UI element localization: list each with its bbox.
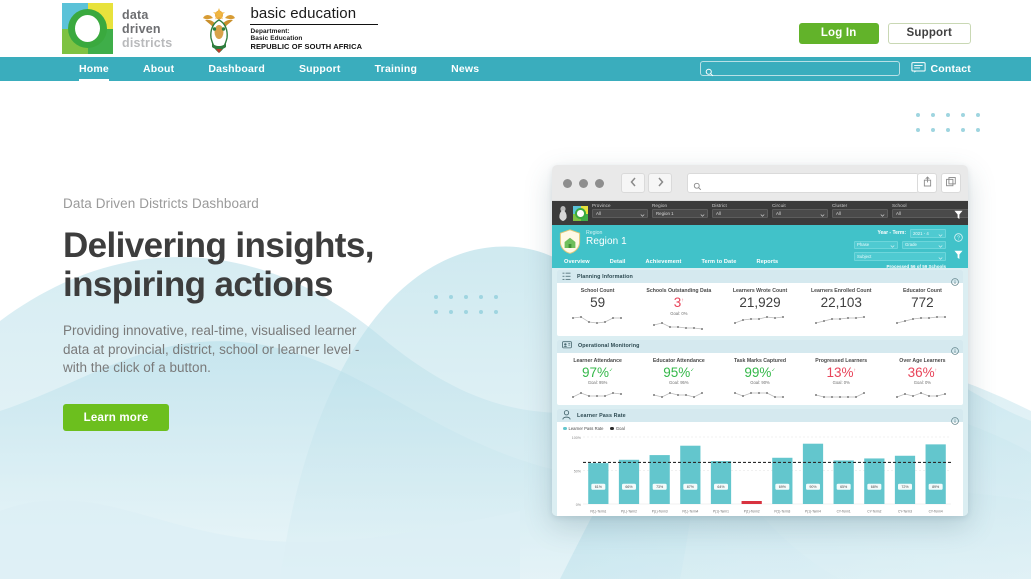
subject-row: Subject <box>828 252 946 261</box>
nav-item-dashboard[interactable]: Dashboard <box>191 57 282 81</box>
contact-link[interactable]: Contact <box>911 62 971 76</box>
subject-value: Subject <box>855 254 871 259</box>
be-title: basic education <box>250 6 378 22</box>
contact-label: Contact <box>931 63 971 75</box>
subject-select[interactable]: Subject <box>854 252 946 261</box>
chevron-down-icon <box>697 213 705 218</box>
kpi-value: 97%✓ <box>557 366 638 380</box>
chevron-right-icon <box>657 174 664 192</box>
kpi-value-number: 97% <box>582 365 609 380</box>
funnel-icon[interactable] <box>954 207 963 225</box>
svg-text:P(L)-Term3: P(L)-Term3 <box>652 510 668 514</box>
legend-item-goal: Goal <box>610 426 624 431</box>
kpi-value-number: 99% <box>744 365 771 380</box>
year-term-row: Year - Term: 2021 - 4 <box>828 229 946 238</box>
hero-eyebrow: Data Driven Districts Dashboard <box>63 196 403 211</box>
brand-row: data driven districts <box>62 3 378 54</box>
pass-rate-panel-header: Learner Pass Rate <box>557 409 963 422</box>
trend-check-icon: ✓ <box>771 367 775 373</box>
nav-item-training[interactable]: Training <box>358 57 434 81</box>
processed-schools-status: Processed 56 of 59 Schools <box>828 264 946 269</box>
operational-panel-header: Operational Monitoring <box>557 340 963 353</box>
dashboard-header-filters: Year - Term: 2021 - 4 Phase Grade Su <box>828 229 946 269</box>
kpi-label: Schools Outstanding Data <box>638 288 719 294</box>
kpi-goal: Goal: 95% <box>638 380 719 385</box>
tab-detail[interactable]: Detail <box>610 259 626 265</box>
kpi-label: Educator Attendance <box>638 358 719 364</box>
dashboard-scope-header: Region Region 1 Overview Detail Achievem… <box>552 225 968 268</box>
info-icon[interactable] <box>951 342 959 360</box>
kpi-goal: Goal: 0% <box>638 311 719 316</box>
kpi-over-age-learners: Over Age Learners 36%↑ Goal: 0% <box>882 358 963 402</box>
chevron-down-icon <box>936 244 943 249</box>
filter-school-value: All <box>893 211 901 216</box>
filter-district[interactable]: District All <box>712 203 768 218</box>
svg-text:P(1)-Term3: P(1)-Term3 <box>774 510 790 514</box>
ddd-word-2: driven <box>122 22 172 36</box>
kpi-sparkline <box>719 312 800 326</box>
svg-text:90%: 90% <box>809 485 817 489</box>
search-icon <box>705 64 714 82</box>
kpi-progressed-learners: Progressed Learners 13%↑ Goal: 0% <box>801 358 882 402</box>
kpi-sparkline <box>801 312 882 326</box>
kpi-label: Learner Attendance <box>557 358 638 364</box>
kpi-value: 21,929 <box>719 296 800 310</box>
kpi-label: Learners Enrolled Count <box>801 288 882 294</box>
chevron-down-icon <box>637 213 645 218</box>
trend-up-icon: ↑ <box>681 298 684 304</box>
kpi-value: 22,103 <box>801 296 882 310</box>
filter-cluster-label: Cluster <box>832 203 888 208</box>
trend-check-icon: ✓ <box>690 367 694 373</box>
svg-text:100%: 100% <box>572 436 582 440</box>
year-term-value: 2021 - 4 <box>911 231 929 236</box>
operational-kpi-row: Learner Attendance 97%✓ Goal: 95% Educat… <box>557 353 963 406</box>
filter-province-label: Province <box>592 203 648 208</box>
kpi-sparkline <box>638 318 719 332</box>
help-icon[interactable]: ? <box>954 229 963 247</box>
filter-district-value: All <box>713 211 721 216</box>
year-term-label: Year - Term: <box>877 230 906 236</box>
kpi-value-number: 13% <box>826 365 853 380</box>
kpi-value: 36%↑ <box>882 366 963 380</box>
chevron-left-icon <box>630 174 637 192</box>
legend-item-pass-rate: Learner Pass Rate <box>563 426 603 431</box>
legend-label: Learner Pass Rate <box>569 426 604 431</box>
filter-district-select[interactable]: All <box>712 209 768 218</box>
be-divider <box>250 24 378 25</box>
svg-text:61%: 61% <box>595 485 603 489</box>
operational-monitoring-panel: Operational Monitoring Learner Attendanc… <box>557 340 963 406</box>
kpi-task-marks-captured: Task Marks Captured 99%✓ Goal: 90% <box>719 358 800 402</box>
svg-text:65%: 65% <box>840 485 848 489</box>
hero-title-line2: inspiring actions <box>63 265 403 304</box>
ddd-logo-icon <box>62 3 113 54</box>
kpi-learner-attendance: Learner Attendance 97%✓ Goal: 95% <box>557 358 638 402</box>
header-actions: Log In Support <box>799 23 971 44</box>
kpi-value: 99%✓ <box>719 366 800 380</box>
svg-text:72%: 72% <box>901 485 909 489</box>
filter-cluster[interactable]: Cluster All <box>832 203 888 218</box>
chart-legend: Learner Pass Rate Goal <box>563 426 957 431</box>
kpi-learners-wrote-count: Learners Wrote Count 21,929 <box>719 288 800 332</box>
svg-text:CY-Term3: CY-Term3 <box>898 510 912 514</box>
tab-achievement[interactable]: Achievement <box>646 259 682 265</box>
svg-text:0%: 0% <box>576 503 582 507</box>
browser-back-button[interactable] <box>621 173 645 193</box>
dashboard-browser-mockup: Province All Region Region 1 District Al… <box>552 165 968 516</box>
dashboard-filter-bar: Province All Region Region 1 District Al… <box>552 201 968 225</box>
trend-check-icon: ✓ <box>609 367 613 373</box>
legend-swatch <box>563 427 567 431</box>
hero-title-line1: Delivering insights, <box>63 226 403 265</box>
svg-text:P(L)-Term1: P(L)-Term1 <box>590 510 606 514</box>
kpi-sparkline <box>557 312 638 326</box>
browser-share-button[interactable] <box>917 173 937 193</box>
filter-region-select[interactable]: Region 1 <box>652 209 708 218</box>
svg-text:P(1)-Term4: P(1)-Term4 <box>805 510 821 514</box>
chevron-down-icon <box>877 213 885 218</box>
be-dept-line3: REPUBLIC OF SOUTH AFRICA <box>250 43 378 51</box>
svg-text:66%: 66% <box>625 485 633 489</box>
kpi-goal: Goal: 0% <box>801 380 882 385</box>
svg-text:69%: 69% <box>779 485 787 489</box>
filter-fields: Province All Region Region 1 District Al… <box>592 203 968 218</box>
grade-select[interactable]: Grade <box>902 241 946 250</box>
svg-text:64%: 64% <box>717 485 725 489</box>
legend-swatch <box>610 427 614 431</box>
share-icon <box>923 174 932 192</box>
support-button[interactable]: Support <box>888 23 971 44</box>
browser-url-bar[interactable] <box>687 173 919 193</box>
pass-rate-chart-area: Learner Pass Rate Goal 0%50%100%61%P(L)-… <box>557 422 963 516</box>
svg-text:68%: 68% <box>871 485 879 489</box>
filter-circuit-label: Circuit <box>772 203 828 208</box>
kpi-sparkline <box>882 387 963 401</box>
svg-text:P(1)-Term1: P(1)-Term1 <box>713 510 729 514</box>
trend-up-icon: ↑ <box>935 367 938 373</box>
svg-text:89%: 89% <box>932 485 940 489</box>
decorative-dot-grid-top-right <box>916 113 980 132</box>
hero-subtitle: Providing innovative, real-time, visuali… <box>63 322 383 377</box>
kpi-schools-outstanding-data: Schools Outstanding Data 3↑ Goal: 0% <box>638 288 719 332</box>
planning-kpi-row: School Count 59 Schools Outstanding Data… <box>557 283 963 336</box>
hero-title: Delivering insights, inspiring actions <box>63 226 403 304</box>
filter-circuit[interactable]: Circuit All <box>772 203 828 218</box>
ddd-word-1: data <box>122 8 172 22</box>
nav-search-box[interactable] <box>700 61 900 76</box>
funnel-icon[interactable] <box>954 247 963 265</box>
trend-up-icon: ↑ <box>853 367 856 373</box>
school-shield-icon <box>559 229 581 254</box>
browser-chrome <box>552 165 968 201</box>
phase-grade-row: Phase Grade <box>828 241 946 250</box>
kpi-learners-enrolled-count: Learners Enrolled Count 22,103 <box>801 288 882 332</box>
info-icon[interactable] <box>951 412 959 430</box>
svg-text:50%: 50% <box>574 470 582 474</box>
svg-text:P(L)-Term2: P(L)-Term2 <box>621 510 637 514</box>
kpi-goal: Goal: 0% <box>882 380 963 385</box>
filter-region-value: Region 1 <box>653 211 674 216</box>
kpi-label: Learners Wrote Count <box>719 288 800 294</box>
filter-province-select[interactable]: All <box>592 209 648 218</box>
basic-education-logo: basic education Department: Basic Educat… <box>196 5 378 53</box>
tab-overview[interactable]: Overview <box>564 259 590 265</box>
dashboard-tabs: Overview Detail Achievement Term to Date… <box>564 259 778 265</box>
browser-forward-button[interactable] <box>648 173 672 193</box>
tab-term-to-date[interactable]: Term to Date <box>701 259 736 265</box>
svg-text:87%: 87% <box>687 485 695 489</box>
svg-text:73%: 73% <box>656 485 664 489</box>
svg-text:?: ? <box>957 236 960 242</box>
scope-name: Region 1 <box>586 236 627 247</box>
window-controls[interactable] <box>563 179 604 188</box>
kpi-value: 13%↑ <box>801 366 882 380</box>
filter-circuit-value: All <box>773 211 781 216</box>
login-button[interactable]: Log In <box>799 23 879 44</box>
person-icon <box>562 407 571 425</box>
filter-province[interactable]: Province All <box>592 203 648 218</box>
kpi-goal: Goal: 90% <box>719 380 800 385</box>
learner-pass-rate-panel: Learner Pass Rate Learner Pass Rate Goal <box>557 409 963 516</box>
ddd-logo-link[interactable]: data driven districts <box>62 3 172 54</box>
kpi-label: Progressed Learners <box>801 358 882 364</box>
svg-text:P(L)-Term4: P(L)-Term4 <box>682 510 698 514</box>
kpi-educator-count: Educator Count 772 <box>882 288 963 332</box>
filter-region-label: Region <box>652 203 708 208</box>
filter-region[interactable]: Region Region 1 <box>652 203 708 218</box>
pass-rate-panel-title: Learner Pass Rate <box>577 413 626 419</box>
kpi-sparkline <box>638 387 719 401</box>
kpi-sparkline <box>882 312 963 326</box>
info-icon[interactable] <box>951 273 959 291</box>
legend-label: Goal <box>616 426 625 431</box>
be-dept-line2: Basic Education <box>250 35 378 42</box>
monitor-icon <box>562 337 572 355</box>
south-africa-coat-of-arms-icon <box>196 5 242 53</box>
kpi-value-number: 95% <box>663 365 690 380</box>
kpi-value-number: 36% <box>908 365 935 380</box>
filter-cluster-select[interactable]: All <box>832 209 888 218</box>
phase-select[interactable]: Phase <box>854 241 898 250</box>
nav-item-home[interactable]: Home <box>62 57 126 81</box>
operational-panel-title: Operational Monitoring <box>578 343 640 349</box>
search-input[interactable] <box>718 62 896 75</box>
grade-value: Grade <box>903 242 917 247</box>
nav-right-group: Contact <box>700 61 971 76</box>
kpi-value: 95%✓ <box>638 366 719 380</box>
coat-of-arms-icon <box>556 205 570 221</box>
copy-tabs-icon <box>946 174 956 192</box>
ddd-logo-icon-small <box>573 206 588 221</box>
chevron-down-icon <box>817 213 825 218</box>
kpi-sparkline <box>801 387 882 401</box>
kpi-value: 3↑ <box>638 296 719 310</box>
phase-value: Phase <box>855 242 869 247</box>
filter-circuit-select[interactable]: All <box>772 209 828 218</box>
kpi-value: 772 <box>882 296 963 310</box>
ddd-word-3: districts <box>122 36 172 50</box>
filter-district-label: District <box>712 203 768 208</box>
kpi-goal: Goal: 95% <box>557 380 638 385</box>
filter-cluster-value: All <box>833 211 841 216</box>
kpi-label: Task Marks Captured <box>719 358 800 364</box>
site-header: data driven districts <box>0 0 1031 57</box>
tab-reports[interactable]: Reports <box>756 259 778 265</box>
nav-links: Home About Dashboard Support Training Ne… <box>62 57 496 81</box>
svg-text:CY-Term4: CY-Term4 <box>929 510 943 514</box>
ddd-logo-wordmark: data driven districts <box>122 8 172 50</box>
kpi-sparkline <box>557 387 638 401</box>
chevron-down-icon <box>757 213 765 218</box>
planning-panel-header: Planning Information <box>557 270 963 283</box>
filter-province-value: All <box>593 211 601 216</box>
nav-item-support[interactable]: Support <box>282 57 358 81</box>
bar-chart-svg: 0%50%100%61%P(L)-Term166%P(L)-Term273%P(… <box>563 433 955 516</box>
main-navigation: Home About Dashboard Support Training Ne… <box>0 57 1031 81</box>
planning-panel-title: Planning Information <box>577 274 633 280</box>
kpi-educator-attendance: Educator Attendance 95%✓ Goal: 95% <box>638 358 719 402</box>
chevron-down-icon <box>888 244 895 249</box>
chevron-down-icon <box>936 233 943 238</box>
nav-item-about[interactable]: About <box>126 57 191 81</box>
svg-text:CY-Term2: CY-Term2 <box>867 510 881 514</box>
nav-item-news[interactable]: News <box>434 57 496 81</box>
pass-rate-bar-chart: 0%50%100%61%P(L)-Term166%P(L)-Term273%P(… <box>563 433 957 516</box>
hero-section: Data Driven Districts Dashboard Deliveri… <box>63 196 403 431</box>
be-dept-line1: Department: <box>250 28 378 35</box>
learn-more-button[interactable]: Learn more <box>63 404 169 431</box>
kpi-sparkline <box>719 387 800 401</box>
chevron-down-icon <box>936 256 943 261</box>
list-icon <box>562 268 571 286</box>
svg-text:P(1)-Term2: P(1)-Term2 <box>744 510 760 514</box>
basic-education-wordmark: basic education Department: Basic Educat… <box>250 6 378 51</box>
browser-tabs-button[interactable] <box>941 173 961 193</box>
planning-information-panel: Planning Information School Count 59 Sch… <box>557 270 963 336</box>
message-icon <box>911 62 926 76</box>
year-term-select[interactable]: 2021 - 4 <box>910 229 946 238</box>
kpi-school-count: School Count 59 <box>557 288 638 332</box>
kpi-label: School Count <box>557 288 638 294</box>
decorative-dot-grid-middle <box>434 295 498 314</box>
kpi-value: 59 <box>557 296 638 310</box>
svg-text:CY-Term1: CY-Term1 <box>837 510 851 514</box>
search-icon <box>693 178 702 196</box>
dashboard-body: Planning Information School Count 59 Sch… <box>552 268 968 516</box>
